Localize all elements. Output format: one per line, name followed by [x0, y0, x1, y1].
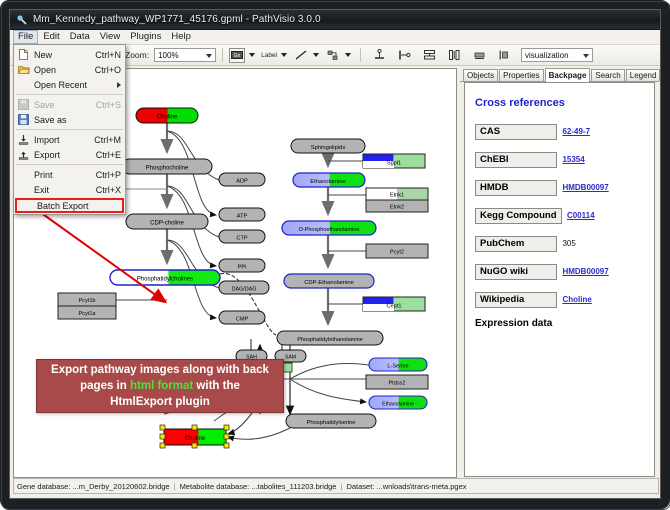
- xref-link[interactable]: 62-49-7: [562, 127, 590, 136]
- expression-data-title: Expression data: [475, 318, 644, 329]
- menu-item-save-as[interactable]: Save as: [14, 112, 125, 127]
- callout-line-2-suffix: with the: [193, 380, 240, 392]
- menu-plugins[interactable]: Plugins: [125, 30, 166, 44]
- pathvisio-application-window: Mm_Kennedy_pathway_WP1771_45176.gpml - P…: [9, 9, 661, 499]
- menu-item-label: Export: [34, 150, 96, 160]
- node-choline-top[interactable]: Choline: [136, 108, 198, 123]
- menu-item-open[interactable]: Open Ctrl+O: [14, 62, 125, 77]
- node-phosphatidylcholine[interactable]: Phosphatidylcholines: [110, 270, 220, 285]
- node-o-phosphoethanolamine[interactable]: O-Phosphoethanolamine: [282, 221, 376, 235]
- node-cdp-ethanolamine[interactable]: CDP-Ethanolamine: [284, 274, 374, 288]
- menu-item-exit[interactable]: Exit Ctrl+X: [14, 182, 125, 197]
- open-folder-icon: [16, 63, 31, 76]
- window-title: Mm_Kennedy_pathway_WP1771_45176.gpml - P…: [33, 14, 321, 25]
- menu-item-import[interactable]: Import Ctrl+M: [14, 132, 125, 147]
- node-label: CMP: [236, 316, 249, 322]
- title-bar: Mm_Kennedy_pathway_WP1771_45176.gpml - P…: [10, 10, 660, 30]
- callout-line-2: pages in html format with the: [80, 378, 240, 394]
- datanode-dropdown-icon[interactable]: [249, 53, 255, 57]
- node-label: Etnk2: [390, 205, 404, 211]
- menu-data[interactable]: Data: [65, 30, 95, 44]
- align-top-icon[interactable]: [371, 48, 387, 63]
- stack-center-x-icon[interactable]: [421, 48, 437, 63]
- menu-item-save: Save Ctrl+S: [14, 97, 125, 112]
- save-as-icon: [16, 113, 31, 126]
- node-label: Choline: [185, 436, 206, 442]
- status-metabolite-database: Metabolite database: ...tabolites_111203…: [180, 482, 337, 491]
- menu-item-batch-export[interactable]: Batch Export: [15, 198, 124, 213]
- blank-icon: [16, 168, 31, 181]
- save-icon: [16, 98, 31, 111]
- menu-item-accel: Ctrl+O: [95, 65, 125, 75]
- menu-separator: [16, 164, 123, 165]
- node-ethanolamine[interactable]: Ethanolamine: [293, 173, 365, 187]
- node-phosphocholine[interactable]: Phosphocholine: [122, 159, 212, 174]
- xref-cas: CAS 62-49-7: [475, 121, 644, 140]
- node-ethanolamine-2[interactable]: Ethanolamine: [369, 396, 427, 409]
- blank-icon: [16, 183, 31, 196]
- cross-references-title: Cross references: [475, 97, 644, 109]
- menu-edit[interactable]: Edit: [38, 30, 64, 44]
- node-label: Phosphatidylserine: [307, 420, 356, 426]
- common-height-icon[interactable]: [496, 48, 512, 63]
- menu-separator: [16, 94, 123, 95]
- menu-item-print[interactable]: Print Ctrl+P: [14, 167, 125, 182]
- node-adp[interactable]: ADP: [219, 173, 265, 186]
- menu-item-accel: Ctrl+S: [96, 100, 125, 110]
- xref-source-label: NuGO wiki: [475, 264, 557, 280]
- common-width-icon[interactable]: [471, 48, 487, 63]
- new-file-icon: [16, 48, 31, 61]
- menu-item-accel: Ctrl+E: [96, 150, 125, 160]
- menu-item-export[interactable]: Export Ctrl+E: [14, 147, 125, 162]
- align-left-icon[interactable]: [396, 48, 412, 63]
- node-label: CDP-Ethanolamine: [304, 280, 354, 286]
- node-label: ADP: [236, 178, 248, 184]
- toolbar-separator: [222, 48, 223, 62]
- node-label: Ethanolamine: [382, 401, 414, 407]
- menu-item-label: Open Recent: [34, 80, 117, 90]
- menu-item-label: Import: [34, 135, 94, 145]
- pathvisio-app-icon: [16, 14, 28, 26]
- tab-legend[interactable]: Legend: [626, 69, 661, 81]
- xref-hmdb: HMDB HMDB00097: [475, 177, 644, 196]
- node-cept1[interactable]: Cept1: [363, 297, 425, 311]
- datanode-tool-button[interactable]: Gn: [229, 48, 245, 63]
- status-gene-database: Gene database: ...m_Derby_20120602.bridg…: [17, 482, 170, 491]
- tab-backpage[interactable]: Backpage: [545, 68, 591, 82]
- menu-view[interactable]: View: [95, 30, 125, 44]
- outer-frame: Mm_Kennedy_pathway_WP1771_45176.gpml - P…: [0, 0, 670, 509]
- node-label: Pcyt1a: [78, 311, 96, 317]
- node-l-serine[interactable]: L-Serine: [369, 358, 427, 371]
- node-label: SAM: [285, 355, 296, 361]
- xref-source-label: ChEBI: [475, 152, 557, 168]
- callout-highlight: html format: [130, 380, 193, 392]
- menu-item-label: Batch Export: [37, 201, 122, 211]
- xref-kegg-compound: Kegg Compound C00114: [475, 205, 644, 224]
- node-sgpl1[interactable]: Sgpl1: [363, 154, 425, 168]
- status-bar: Gene database: ...m_Derby_20120602.bridg…: [13, 478, 659, 494]
- node-label: CTP: [236, 235, 247, 241]
- xref-value: 305: [562, 239, 575, 248]
- menu-item-label: Save as: [34, 115, 121, 125]
- node-label: Ptdss2: [388, 381, 405, 387]
- node-label: Choline: [157, 115, 178, 121]
- xref-wikipedia: Wikipedia Choline: [475, 289, 644, 308]
- menu-item-label: Open: [34, 65, 95, 75]
- annotation-callout: Export pathway images along with back pa…: [36, 359, 284, 413]
- node-etnk1[interactable]: Etnk1: [366, 188, 428, 200]
- node-label: Cept1: [387, 304, 402, 310]
- menu-item-label: New: [34, 50, 95, 60]
- node-label: Pcyt2: [390, 250, 404, 256]
- menu-file[interactable]: File: [13, 30, 38, 44]
- node-label: L-Serine: [387, 363, 408, 369]
- xref-source-label: HMDB: [475, 180, 557, 196]
- svg-text:Gn: Gn: [234, 53, 241, 59]
- node-label: Pcyt1b: [78, 298, 95, 304]
- xref-source-label: CAS: [475, 124, 557, 140]
- interaction-dropdown-icon[interactable]: [345, 53, 351, 57]
- visualization-combo[interactable]: visualization: [521, 48, 593, 62]
- node-atp[interactable]: ATP: [219, 208, 265, 221]
- line-dropdown-icon[interactable]: [313, 53, 319, 57]
- stack-center-y-icon[interactable]: [446, 48, 462, 63]
- node-label: Ethanolamine: [310, 179, 345, 185]
- xref-chebi: ChEBI 15354: [475, 149, 644, 168]
- file-menu-dropdown[interactable]: New Ctrl+N Open Ctrl+O Open Recent: [13, 44, 126, 215]
- xref-pubchem: PubChem 305: [475, 233, 644, 252]
- menu-item-new[interactable]: New Ctrl+N: [14, 47, 125, 62]
- right-sidebar: Objects Properties Backpage Search Legen…: [460, 68, 659, 478]
- node-label: Phosphatidylcholines: [137, 277, 193, 283]
- node-cmp[interactable]: CMP: [219, 311, 265, 324]
- callout-line-1: Export pathway images along with back: [51, 362, 269, 378]
- label-dropdown-icon[interactable]: [281, 53, 287, 57]
- node-ppi[interactable]: PPi: [219, 259, 265, 272]
- tab-search[interactable]: Search: [591, 69, 624, 81]
- callout-line-2-prefix: pages in: [80, 380, 130, 392]
- xref-link[interactable]: 15354: [562, 155, 584, 164]
- menu-help[interactable]: Help: [166, 30, 196, 44]
- status-separator: |: [336, 482, 346, 491]
- node-label: O-Phosphoethanolamine: [299, 227, 360, 233]
- sidebar-tab-strip[interactable]: Objects Properties Backpage Search Legen…: [460, 68, 659, 82]
- blank-icon: [19, 199, 34, 212]
- backpage-panel: Cross references CAS 62-49-7 ChEBI 15354…: [464, 82, 655, 477]
- node-label: PPi: [238, 264, 247, 270]
- node-sphingolipids[interactable]: Sphingolipids: [291, 139, 365, 153]
- node-pcyt1b[interactable]: Pcyt1b: [58, 293, 116, 306]
- zoom-value: 100%: [158, 51, 178, 60]
- status-dataset: Dataset: ...wnloads\trans-meta.pgex: [346, 482, 466, 491]
- interaction-tool-button[interactable]: [325, 48, 341, 63]
- node-label: ATP: [237, 213, 248, 219]
- toolbar-separator-2: [360, 48, 361, 62]
- menu-separator: [16, 129, 123, 130]
- node-cdp-choline[interactable]: CDP-choline: [126, 214, 208, 229]
- menu-item-label: Exit: [34, 185, 96, 195]
- xref-link[interactable]: C00114: [567, 211, 595, 220]
- chevron-down-icon: [206, 54, 212, 58]
- chevron-down-icon: [583, 54, 589, 58]
- node-ctp[interactable]: CTP: [219, 230, 265, 243]
- menu-item-open-recent[interactable]: Open Recent: [14, 77, 125, 92]
- menu-item-accel: Ctrl+X: [96, 185, 125, 195]
- node-dagdag[interactable]: DAG/DAG: [219, 281, 269, 294]
- node-label: Sphingolipids: [311, 145, 346, 151]
- menu-item-label: Print: [34, 170, 96, 180]
- line-tool-button[interactable]: [293, 48, 309, 63]
- zoom-label: Zoom:: [125, 50, 149, 60]
- node-label: Phosphocholine: [146, 166, 189, 172]
- node-phosphatidylethanolamine[interactable]: Phosphatidylethanolamine: [277, 331, 383, 345]
- node-pcyt2[interactable]: Pcyt2: [366, 244, 428, 258]
- node-etnk2[interactable]: Etnk2: [366, 200, 428, 212]
- menu-item-accel: Ctrl+P: [96, 170, 125, 180]
- tab-objects[interactable]: Objects: [463, 69, 498, 81]
- node-choline-bottom[interactable]: Choline: [160, 425, 229, 448]
- menu-item-label: Save: [34, 100, 96, 110]
- node-phosphatidylserine[interactable]: Phosphatidylserine: [286, 414, 376, 428]
- zoom-combo[interactable]: 100%: [154, 48, 216, 62]
- export-icon: [16, 148, 31, 161]
- menu-bar[interactable]: File Edit Data View Plugins Help: [10, 30, 660, 45]
- import-icon: [16, 133, 31, 146]
- node-ptdss2[interactable]: Ptdss2: [366, 375, 428, 389]
- xref-link[interactable]: HMDB00097: [562, 183, 608, 192]
- visualization-value: visualization: [525, 51, 569, 60]
- node-label: Etnk1: [390, 193, 404, 199]
- xref-source-label: Kegg Compound: [475, 208, 562, 224]
- status-separator: |: [170, 482, 180, 491]
- node-label: DAG/DAG: [232, 286, 257, 292]
- node-label: CDP-choline: [150, 221, 184, 227]
- label-tool-button[interactable]: Label: [261, 52, 277, 59]
- node-label: Sgpl1: [387, 161, 401, 167]
- node-label: Phosphatidylethanolamine: [297, 337, 363, 343]
- xref-link[interactable]: HMDB00097: [562, 267, 608, 276]
- submenu-arrow-icon: [117, 82, 121, 88]
- xref-link[interactable]: Choline: [562, 295, 591, 304]
- xref-source-label: Wikipedia: [475, 292, 557, 308]
- callout-line-3: HtmlExport plugin: [110, 394, 210, 410]
- tab-properties[interactable]: Properties: [499, 69, 543, 81]
- xref-nugo-wiki: NuGO wiki HMDB00097: [475, 261, 644, 280]
- menu-item-accel: Ctrl+M: [94, 135, 125, 145]
- node-pcyt1a[interactable]: Pcyt1a: [58, 306, 116, 319]
- menu-item-accel: Ctrl+N: [95, 50, 125, 60]
- blank-icon: [16, 78, 31, 91]
- xref-source-label: PubChem: [475, 236, 557, 252]
